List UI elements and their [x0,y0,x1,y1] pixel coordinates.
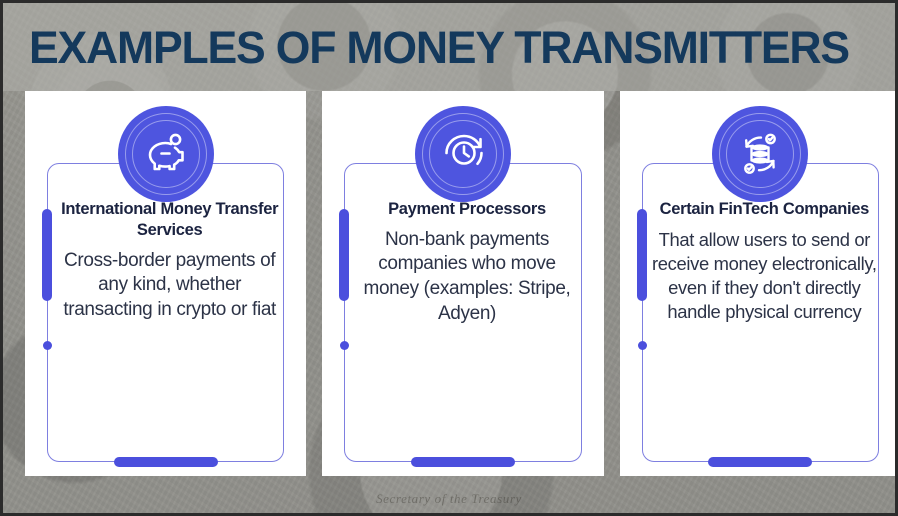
card-description: That allow users to send or receive mone… [648,228,881,324]
card-row: International Money Transfer Services Cr… [3,91,898,476]
coin-stack-cycle-icon [712,106,808,202]
accent-bar-horizontal [114,457,218,467]
card-description: Cross-border payments of any kind, wheth… [53,249,286,323]
accent-bar-horizontal [411,457,515,467]
card-description: Non-bank payments companies who move mon… [350,228,583,327]
card-text: Payment Processors Non-bank payments com… [350,199,583,327]
card-heading: Payment Processors [350,199,583,220]
card-text: International Money Transfer Services Cr… [53,199,286,323]
card-certain-fintech-companies[interactable]: Certain FinTech Companies That allow use… [620,91,898,476]
slide: Secretary of the Treasury EXAMPLES OF MO… [0,0,898,516]
accent-dot [638,341,647,350]
card-payment-processors[interactable]: Payment Processors Non-bank payments com… [322,91,603,476]
card-heading: Certain FinTech Companies [648,199,881,220]
accent-bar-vertical [42,209,52,301]
clock-refresh-icon [415,106,511,202]
accent-dot [43,341,52,350]
background-signature-caption: Secretary of the Treasury [3,491,895,507]
accent-bar-vertical [339,209,349,301]
page-title: EXAMPLES OF MONEY TRANSMITTERS [29,25,849,70]
accent-bar-vertical [637,209,647,301]
title-band: EXAMPLES OF MONEY TRANSMITTERS [3,3,895,91]
card-heading: International Money Transfer Services [53,199,286,241]
card-international-money-transfer[interactable]: International Money Transfer Services Cr… [25,91,306,476]
accent-bar-horizontal [708,457,812,467]
piggy-bank-icon [118,106,214,202]
card-text: Certain FinTech Companies That allow use… [648,199,881,323]
